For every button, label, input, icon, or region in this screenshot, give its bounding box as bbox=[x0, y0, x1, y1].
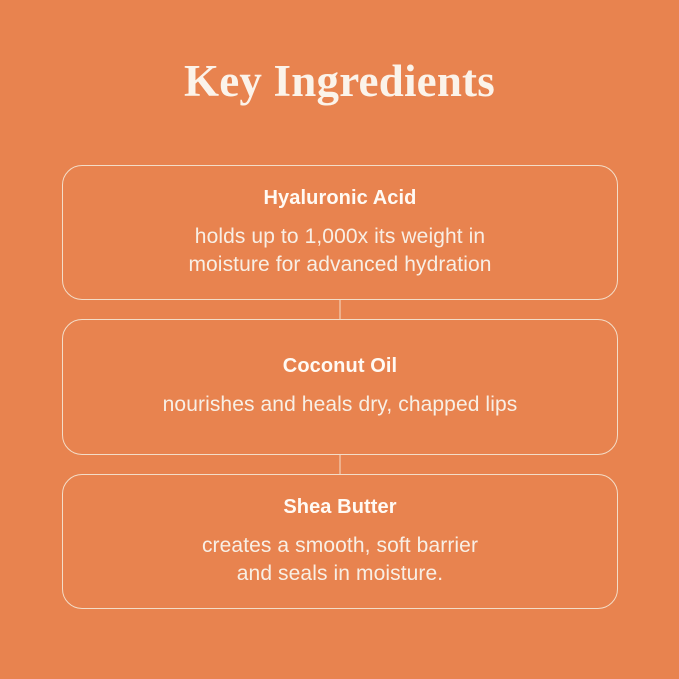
description-line: creates a smooth, soft barrier bbox=[202, 532, 478, 560]
ingredient-name: Coconut Oil bbox=[283, 355, 397, 377]
description-line: holds up to 1,000x its weight in bbox=[188, 223, 491, 251]
ingredient-card-list: Hyaluronic Acid holds up to 1,000x its w… bbox=[62, 165, 618, 609]
ingredient-name: Shea Butter bbox=[283, 496, 396, 518]
description-line: moisture for advanced hydration bbox=[188, 251, 491, 279]
card-connector-line bbox=[62, 455, 618, 474]
description-line: nourishes and heals dry, chapped lips bbox=[163, 391, 518, 419]
ingredient-description: holds up to 1,000x its weight in moistur… bbox=[164, 223, 515, 279]
ingredient-description: creates a smooth, soft barrier and seals… bbox=[178, 532, 502, 588]
ingredient-card: Hyaluronic Acid holds up to 1,000x its w… bbox=[62, 165, 618, 300]
ingredient-description: nourishes and heals dry, chapped lips bbox=[139, 391, 542, 419]
ingredient-card: Coconut Oil nourishes and heals dry, cha… bbox=[62, 319, 618, 455]
page-title: Key Ingredients bbox=[0, 59, 679, 104]
key-ingredients-infographic: Key Ingredients Hyaluronic Acid holds up… bbox=[0, 0, 679, 679]
description-line: and seals in moisture. bbox=[202, 560, 478, 588]
ingredient-card: Shea Butter creates a smooth, soft barri… bbox=[62, 474, 618, 609]
ingredient-name: Hyaluronic Acid bbox=[263, 187, 416, 209]
card-connector-line bbox=[62, 300, 618, 319]
